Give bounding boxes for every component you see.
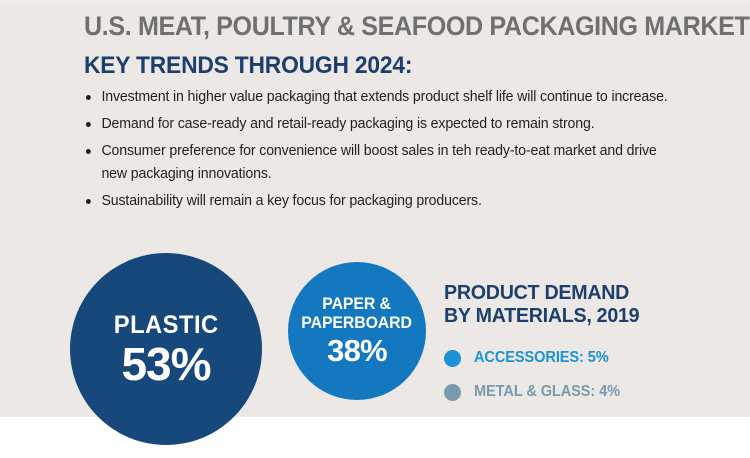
bullet-dot-icon [86, 149, 91, 154]
bubble-plastic: PLASTIC 53% [70, 253, 262, 445]
bullet-dot-icon [86, 122, 91, 127]
list-item: Consumer preference for convenience will… [84, 140, 676, 186]
key-trends-list: Investment in higher value packaging tha… [84, 86, 694, 217]
legend-item-metal-glass: METAL & GLASS: 4% [444, 375, 734, 409]
section-subtitle: KEY TRENDS THROUGH 2024: [84, 52, 412, 80]
panel-top-strip [0, 0, 750, 4]
legend-item-label: METAL & GLASS: 4% [474, 383, 620, 401]
bullet-dot-icon [86, 95, 91, 100]
list-item-text: Consumer preference for convenience will… [101, 143, 656, 182]
bubble-plastic-value: 53% [121, 340, 210, 388]
page-title: U.S. MEAT, POULTRY & SEAFOOD PACKAGING M… [84, 11, 670, 42]
bubble-paper-paperboard-value: 38% [327, 334, 387, 367]
list-item: Investment in higher value packaging tha… [84, 86, 676, 109]
bullet-dot-icon [86, 199, 91, 204]
list-item-text: Demand for case-ready and retail-ready p… [101, 116, 594, 132]
legend-list: ACCESSORIES: 5% METAL & GLASS: 4% [444, 341, 734, 409]
legend-title: PRODUCT DEMAND BY MATERIALS, 2019 [444, 281, 722, 327]
bubble-paper-paperboard-label: PAPER & PAPERBOARD [302, 295, 413, 333]
list-item-text: Sustainability will remain a key focus f… [101, 193, 481, 209]
legend-swatch-metal-glass-icon [444, 384, 461, 401]
list-item: Demand for case-ready and retail-ready p… [84, 113, 676, 136]
list-item: Sustainability will remain a key focus f… [84, 190, 676, 213]
list-item-text: Investment in higher value packaging tha… [101, 89, 667, 105]
legend-swatch-accessories-icon [444, 350, 461, 367]
infographic-root: U.S. MEAT, POULTRY & SEAFOOD PACKAGING M… [0, 0, 750, 458]
bubble-paper-paperboard: PAPER & PAPERBOARD 38% [288, 262, 426, 400]
legend-item-label: ACCESSORIES: 5% [474, 349, 609, 367]
legend-item-accessories: ACCESSORIES: 5% [444, 341, 734, 375]
bubble-plastic-label: PLASTIC [114, 311, 219, 339]
legend: PRODUCT DEMAND BY MATERIALS, 2019 ACCESS… [444, 281, 734, 409]
